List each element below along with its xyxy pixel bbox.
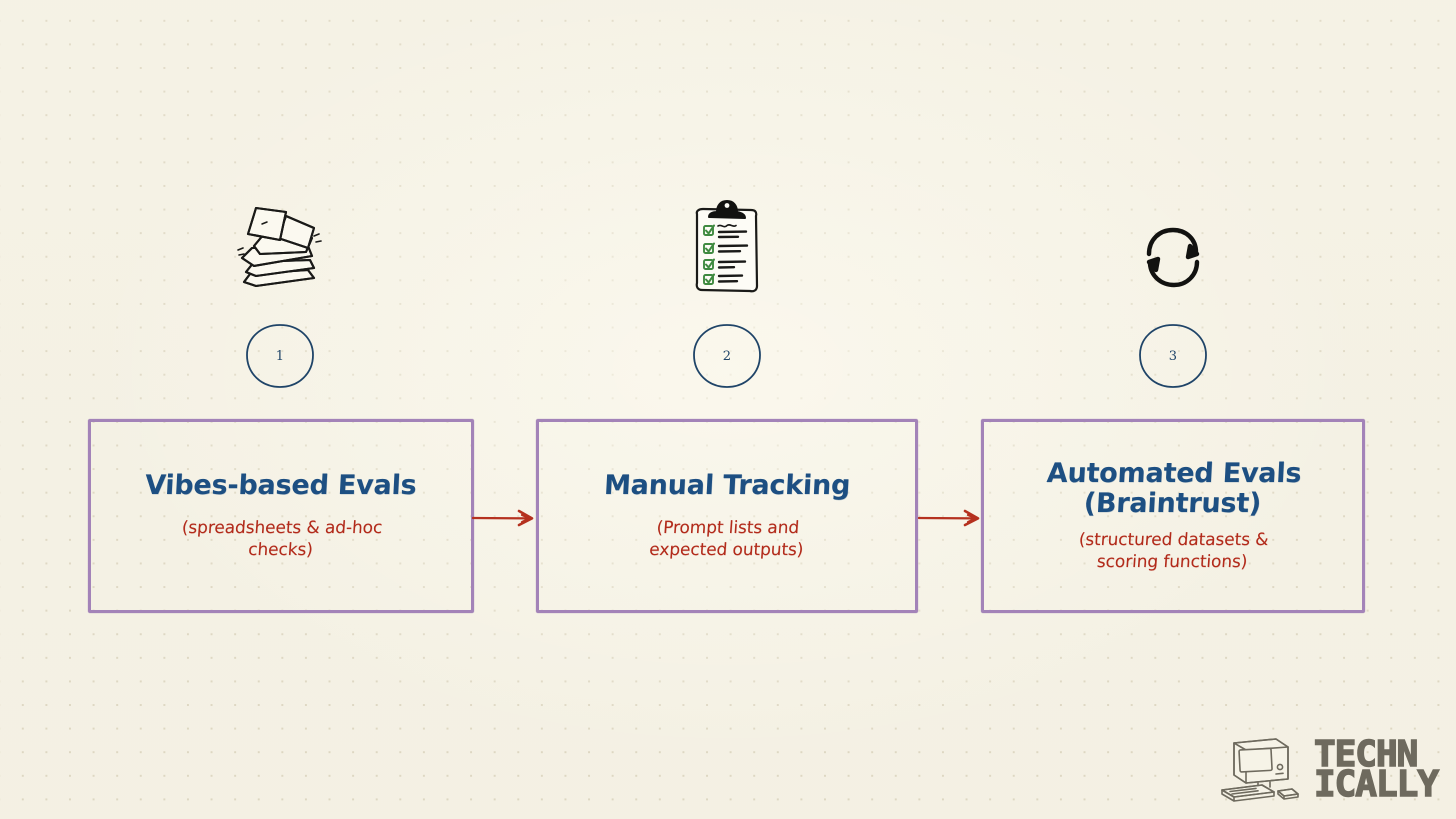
stage-card-2[interactable]: Manual Tracking (Prompt lists and expect…: [536, 419, 918, 613]
arrow-stage1-to-stage2: [472, 503, 538, 533]
stage-subtitle-2-line-2: expected outputs): [648, 540, 804, 562]
brand-logo: TECHN ICALLY: [1218, 735, 1438, 805]
stage-subtitle-2: (Prompt lists and expected outputs): [648, 518, 805, 562]
stage-subtitle-1: (spreadsheets & ad-hoc checks): [179, 518, 382, 562]
stage-card-3[interactable]: Automated Evals (Braintrust) (structured…: [981, 419, 1365, 613]
stage-subtitle-3-line-1: (structured datasets &: [1078, 530, 1269, 552]
brand-wordmark: TECHN ICALLY: [1314, 740, 1438, 800]
stage-title-2: Manual Tracking: [603, 471, 851, 501]
stage-title-3-line-2: (Braintrust): [1044, 489, 1300, 519]
stage-card-1[interactable]: Vibes-based Evals (spreadsheets & ad-hoc…: [88, 419, 474, 613]
paper-texture-overlay: [0, 0, 1456, 819]
stage-number-bubble-2: 2: [691, 322, 763, 390]
diagram-canvas: 1 Vibes-based Evals (spreadsheets & ad-h…: [0, 0, 1456, 819]
arrow-stage2-to-stage3: [918, 503, 984, 533]
brand-line-2: ICALLY: [1314, 770, 1438, 800]
paper-stack-icon: [225, 196, 335, 300]
stage-title-3: Automated Evals (Braintrust): [1044, 459, 1302, 519]
retro-computer-icon: [1218, 735, 1304, 805]
stage-number-3: 3: [1169, 350, 1178, 363]
stage-number-1: 1: [276, 350, 285, 363]
stage-subtitle-3-line-2: scoring functions): [1077, 552, 1268, 574]
stage-number-bubble-3: 3: [1137, 322, 1209, 390]
stage-number-bubble-1: 1: [244, 322, 316, 390]
stage-subtitle-1-line-2: checks): [179, 540, 381, 562]
stage-title-1: Vibes-based Evals: [144, 471, 417, 501]
stage-number-2: 2: [723, 350, 732, 363]
stage-subtitle-3: (structured datasets & scoring functions…: [1077, 530, 1270, 574]
stage-subtitle-1-line-1: (spreadsheets & ad-hoc: [181, 518, 383, 540]
stage-title-3-line-1: Automated Evals: [1046, 459, 1302, 489]
stage-subtitle-2-line-1: (Prompt lists and: [650, 518, 806, 540]
refresh-loop-icon: [1118, 206, 1228, 310]
clipboard-checklist-icon: [672, 196, 782, 300]
